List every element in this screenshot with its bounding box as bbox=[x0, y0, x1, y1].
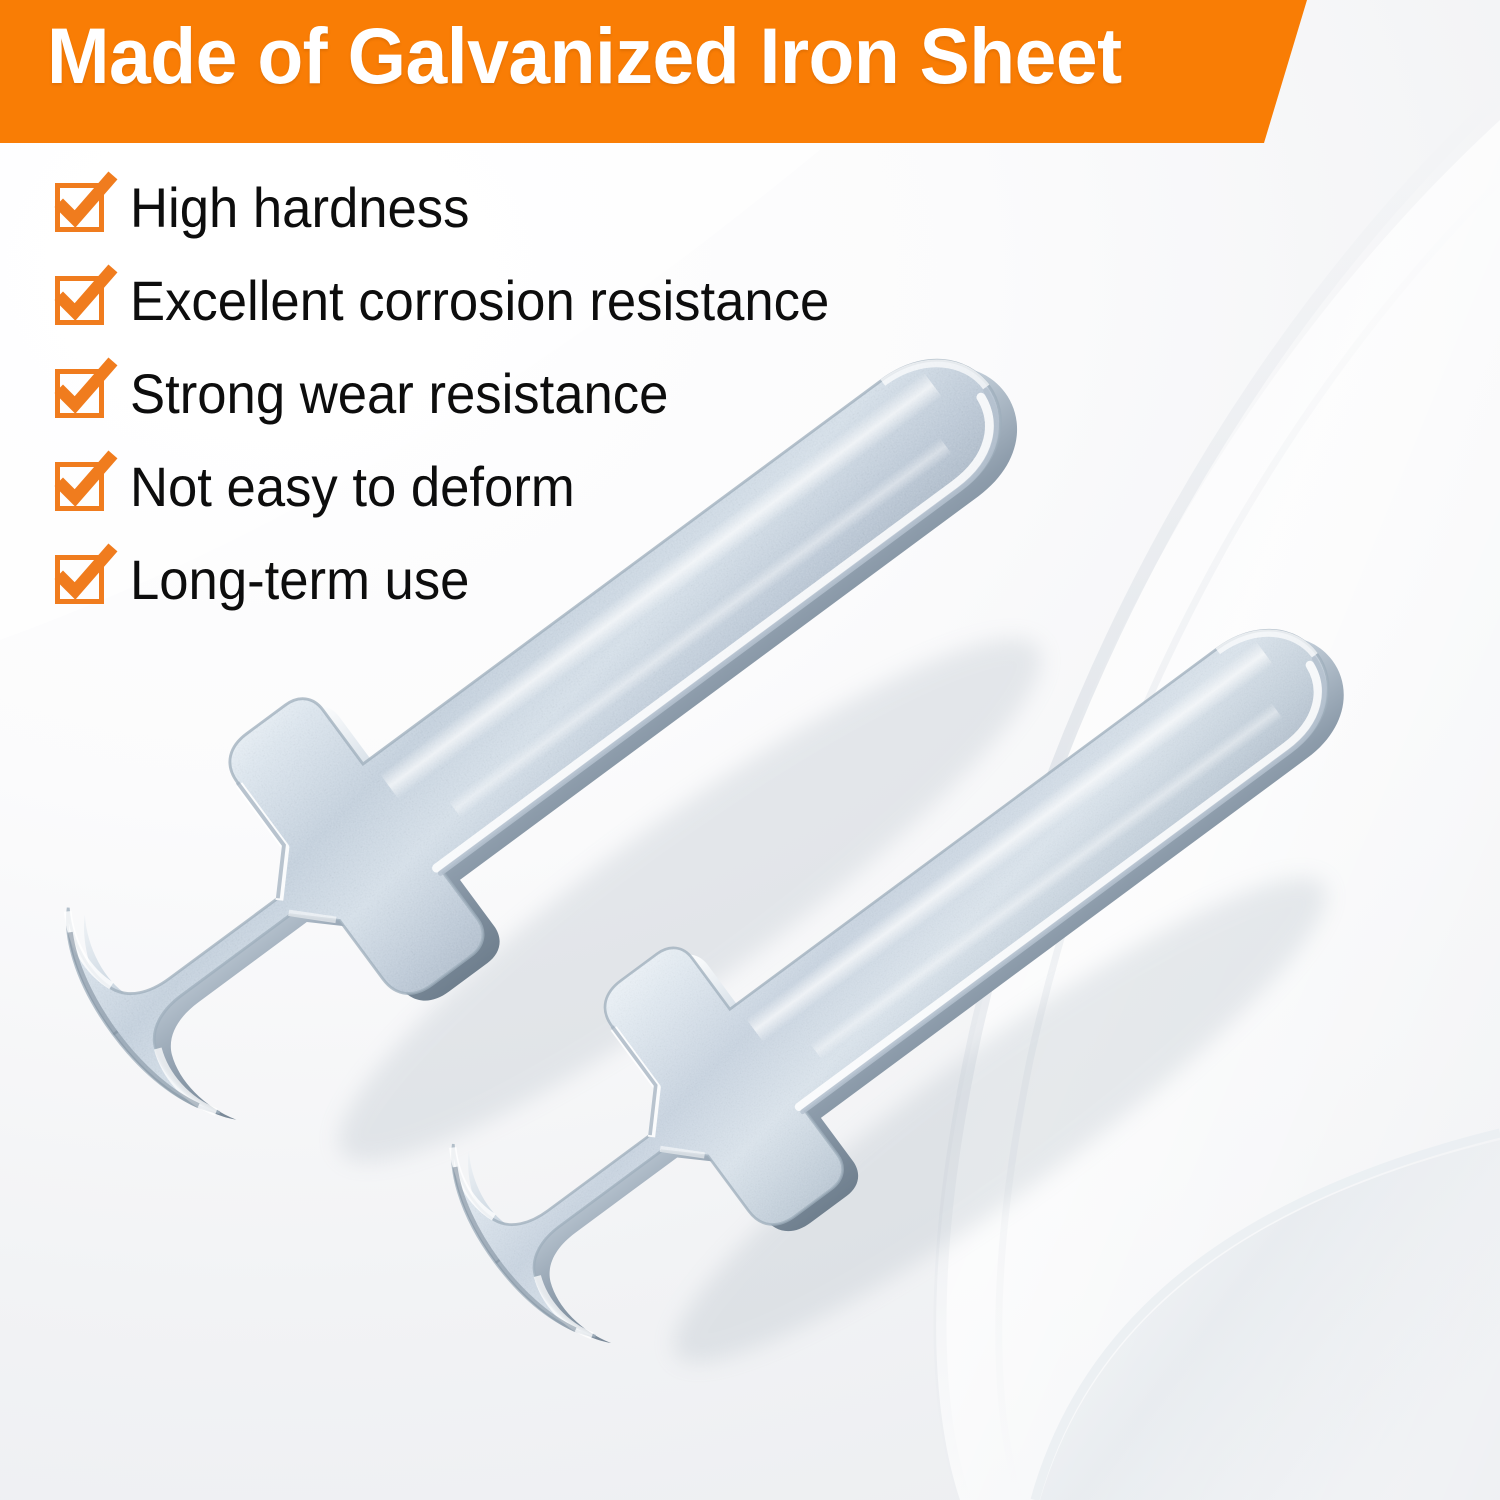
list-item: High hardness bbox=[55, 180, 874, 235]
checked-checkbox-icon bbox=[55, 369, 104, 418]
checked-checkbox-icon bbox=[55, 555, 104, 604]
checked-checkbox-icon bbox=[55, 462, 104, 511]
feature-list: High hardness Excellent corrosion resist… bbox=[55, 180, 874, 645]
page-title: Made of Galvanized Iron Sheet bbox=[47, 16, 1122, 95]
feature-label: Strong wear resistance bbox=[130, 366, 668, 422]
feature-label: Excellent corrosion resistance bbox=[130, 273, 829, 329]
list-item: Long-term use bbox=[55, 552, 874, 607]
feature-label: Not easy to deform bbox=[130, 459, 575, 515]
list-item: Strong wear resistance bbox=[55, 366, 874, 421]
header-banner: Made of Galvanized Iron Sheet bbox=[0, 0, 1310, 143]
checked-checkbox-icon bbox=[55, 183, 104, 232]
feature-label: High hardness bbox=[130, 180, 469, 236]
product-feature-image: Made of Galvanized Iron Sheet High hardn… bbox=[0, 0, 1500, 1500]
feature-label: Long-term use bbox=[130, 552, 469, 608]
list-item: Not easy to deform bbox=[55, 459, 874, 514]
checked-checkbox-icon bbox=[55, 276, 104, 325]
list-item: Excellent corrosion resistance bbox=[55, 273, 874, 328]
